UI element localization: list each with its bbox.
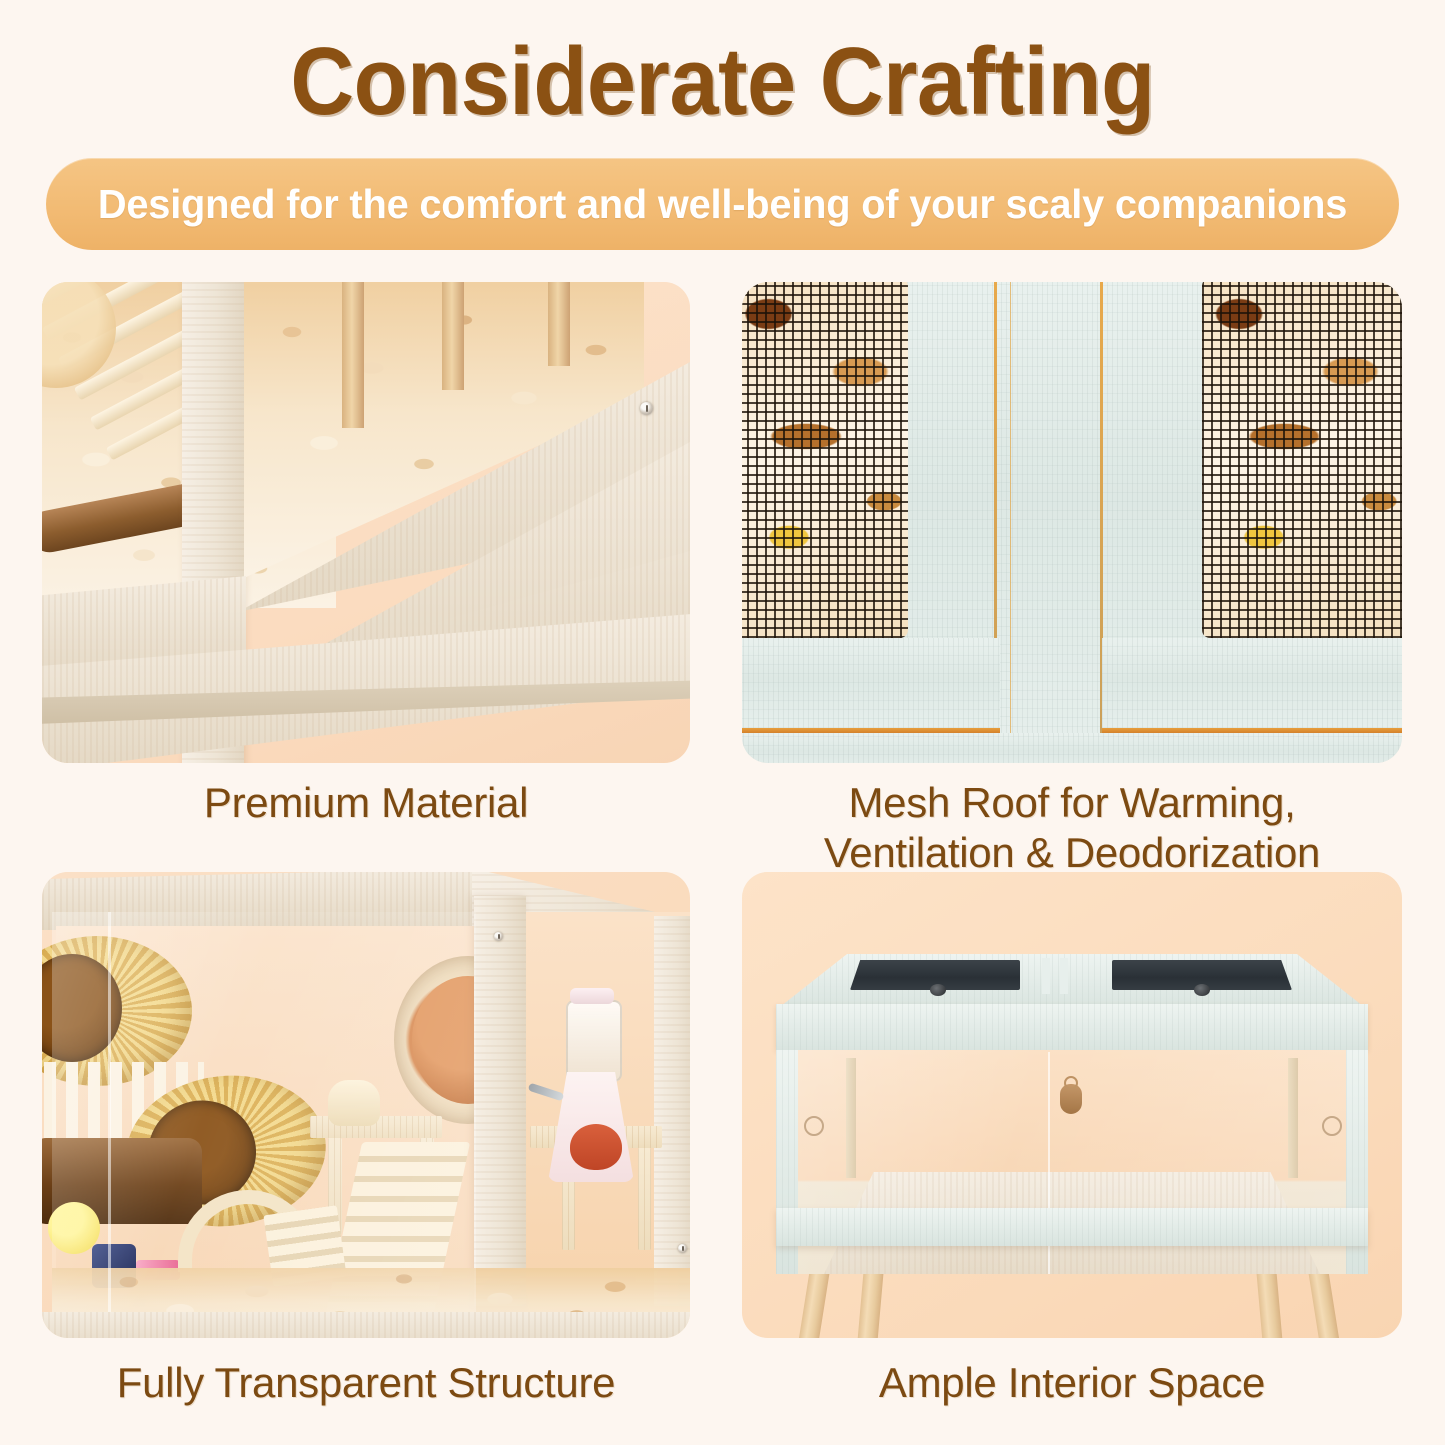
screw-icon — [640, 402, 653, 415]
water-bottle-cap — [570, 988, 614, 1004]
caption-transparent-structure: Fully Transparent Structure — [42, 1358, 690, 1408]
vent-hole-left — [804, 1116, 824, 1136]
mesh-pane-right — [1202, 282, 1402, 638]
caption-line: Premium Material — [42, 778, 690, 828]
caption-line: Ample Interior Space — [742, 1358, 1402, 1408]
photo-panel-transparent-structure — [42, 872, 690, 1338]
front-top-rail — [776, 1004, 1368, 1050]
mesh-pane-left — [742, 282, 908, 638]
vent-hole-right — [1322, 1116, 1342, 1136]
lid-knob-left — [930, 984, 946, 996]
water-bottle-logo — [570, 1124, 622, 1170]
lid-board-left — [742, 638, 1000, 728]
front-glass-panel — [52, 912, 476, 1312]
wooden-dowel — [442, 282, 464, 390]
subtitle-banner: Designed for the comfort and well-being … — [46, 158, 1399, 250]
caption-premium-material: Premium Material — [42, 778, 690, 828]
subtitle-text: Designed for the comfort and well-being … — [66, 158, 1378, 250]
caption-line: Mesh Roof for Warming, — [732, 778, 1412, 828]
water-bottle-tube — [566, 1000, 622, 1082]
lid-board-bottom — [742, 733, 1402, 763]
shelf-leg — [638, 1148, 651, 1250]
caption-mesh-roof: Mesh Roof for Warming, Ventilation & Deo… — [732, 778, 1412, 877]
lid-hinge-gap — [1060, 958, 1068, 994]
infographic-page: Considerate Crafting Designed for the co… — [0, 0, 1445, 1445]
lid-board-right — [1102, 638, 1402, 728]
lid-hinge-gap — [1042, 958, 1050, 994]
corner-post-right — [474, 896, 526, 1306]
lid-knob-right — [1194, 984, 1210, 996]
photo-panel-ample-interior-space — [742, 872, 1402, 1338]
caption-line: Ventilation & Deodorization — [732, 828, 1412, 878]
mesh-grid-overlay — [742, 282, 908, 638]
wooden-dowel — [548, 282, 570, 366]
page-title: Considerate Crafting — [58, 34, 1387, 130]
glass-edge-line — [108, 912, 111, 1312]
screw-icon — [494, 932, 503, 941]
base-board — [42, 1312, 690, 1338]
caption-line: Fully Transparent Structure — [42, 1358, 690, 1408]
caption-ample-interior-space: Ample Interior Space — [742, 1358, 1402, 1408]
wooden-dowel — [342, 282, 364, 428]
photo-panel-mesh-roof — [742, 282, 1402, 763]
mesh-grid-overlay — [1202, 282, 1402, 638]
photo-panel-premium-material — [42, 282, 690, 763]
screw-icon — [678, 1244, 687, 1253]
base-plinth — [776, 1208, 1368, 1246]
